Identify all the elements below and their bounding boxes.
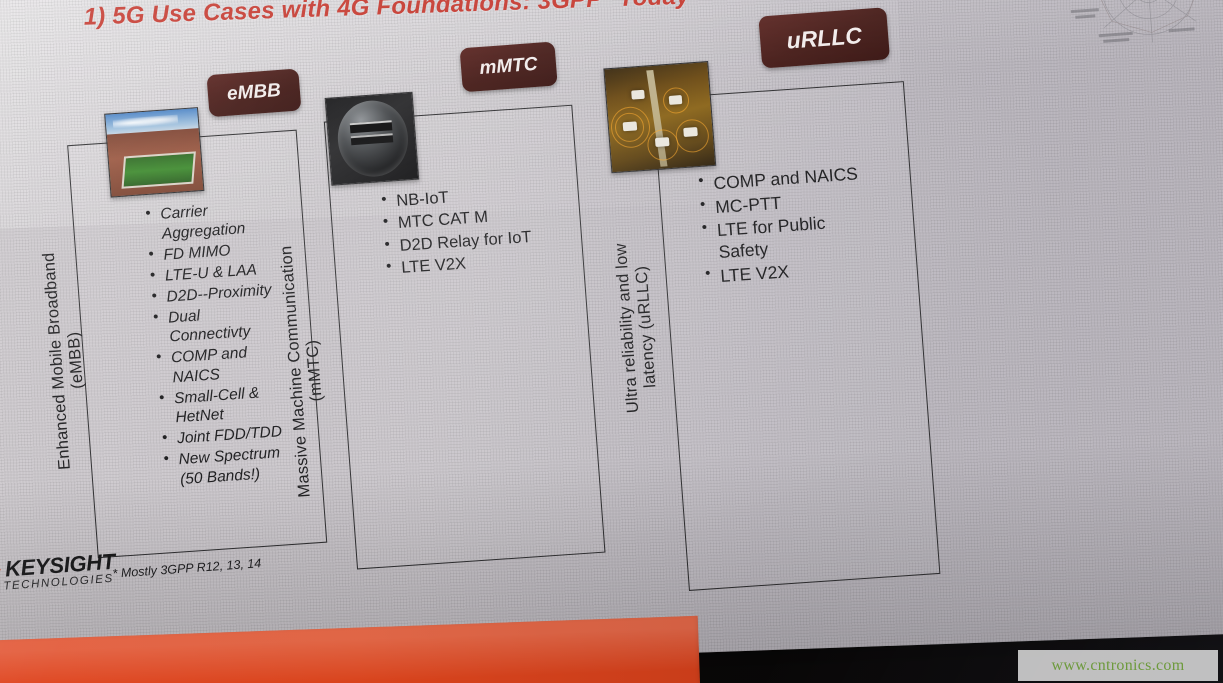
list-item: New Spectrum (50 Bands!): [162, 443, 295, 491]
smart-meter-photo-thumbnail: [325, 92, 420, 186]
badge-embb[interactable]: eMBB: [206, 69, 301, 118]
projection-screen: 1) 5G Use Cases with 4G Foundations: 3GP…: [0, 0, 1223, 677]
highway-v2x-photo-thumbnail: [603, 61, 716, 173]
footnote: * Mostly 3GPP R12, 13, 14: [112, 556, 262, 581]
keysight-triangle-icon: [0, 564, 2, 577]
list-item: COMP and NAICS: [154, 341, 287, 389]
spider-chart-decoration: [1039, 0, 1223, 58]
vertical-label-urllc: Ultra reliability and low latency (uRLLC…: [607, 176, 667, 480]
badge-mmtc[interactable]: mMTC: [459, 41, 557, 92]
watermark: www.cntronics.com: [1018, 650, 1218, 681]
keysight-logo: KEYSIGHT TECHNOLOGIES: [0, 549, 117, 594]
stadium-photo-thumbnail: [104, 107, 204, 197]
list-item: Carrier Aggregation: [144, 197, 277, 245]
slide-title: 1) 5G Use Cases with 4G Foundations: 3GP…: [83, 0, 690, 32]
list-item: Dual Connectivty: [151, 300, 284, 348]
bullet-list-urllc: COMP and NAICSMC-PTTLTE for Public Safet…: [697, 161, 880, 289]
slide-content: 1) 5G Use Cases with 4G Foundations: 3GP…: [0, 0, 1223, 677]
screenshot-root: 1) 5G Use Cases with 4G Foundations: 3GP…: [0, 0, 1223, 683]
bullet-list-embb: Carrier AggregationFD MIMOLTE-U & LAAD2D…: [144, 197, 295, 492]
list-item: Small-Cell & HetNet: [157, 381, 290, 429]
bullet-list-mmtc: NB-IoTMTC CAT MD2D Relay for IoTLTE V2X: [380, 181, 546, 281]
badge-urllc[interactable]: uRLLC: [758, 7, 890, 68]
